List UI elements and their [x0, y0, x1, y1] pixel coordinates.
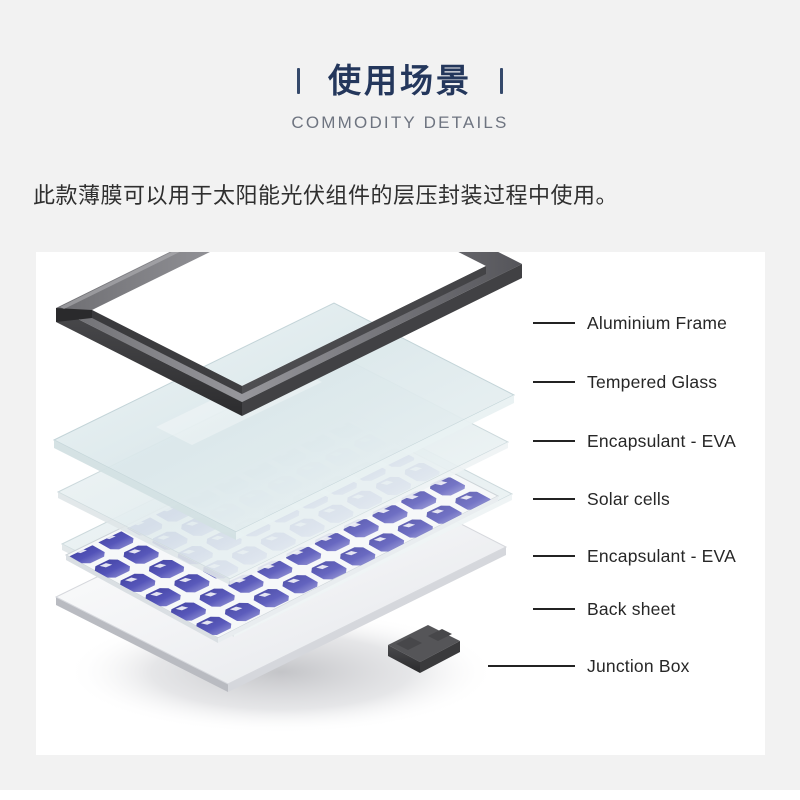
callout-aluminium-frame: Aluminium Frame	[533, 312, 727, 334]
callout-label: Aluminium Frame	[587, 313, 727, 334]
callout-solar-cells: Solar cells	[533, 488, 670, 510]
leader-line-icon	[533, 322, 575, 324]
section-header: 使用场景 COMMODITY DETAILS	[0, 58, 800, 133]
leader-line-icon	[533, 608, 575, 610]
product-image-panel: Aluminium Frame Tempered Glass Encapsula…	[36, 252, 765, 755]
callout-label: Tempered Glass	[587, 372, 717, 393]
callout-tempered-glass: Tempered Glass	[533, 371, 717, 393]
leader-line-icon	[533, 555, 575, 557]
leader-line-icon	[488, 665, 575, 667]
callout-label: Encapsulant - EVA	[587, 431, 736, 452]
callout-label: Junction Box	[587, 656, 690, 677]
callout-encapsulant-eva-top: Encapsulant - EVA	[533, 430, 736, 452]
leader-line-icon	[533, 498, 575, 500]
description-text: 此款薄膜可以用于太阳能光伏组件的层压封装过程中使用。	[33, 178, 618, 210]
page-root: 使用场景 COMMODITY DETAILS 此款薄膜可以用于太阳能光伏组件的层…	[0, 0, 800, 800]
page-title: 使用场景	[328, 61, 472, 101]
callout-list: Aluminium Frame Tempered Glass Encapsula…	[36, 252, 765, 755]
callout-label: Back sheet	[587, 599, 676, 620]
right-divider-tick	[500, 68, 503, 94]
callout-label: Encapsulant - EVA	[587, 546, 736, 567]
title-row: 使用场景	[0, 58, 800, 104]
bottom-white-strip	[0, 790, 800, 800]
callout-label: Solar cells	[587, 489, 670, 510]
left-divider-tick	[297, 68, 300, 94]
callout-junction-box: Junction Box	[488, 655, 690, 677]
leader-line-icon	[533, 381, 575, 383]
page-subtitle: COMMODITY DETAILS	[0, 113, 800, 133]
callout-encapsulant-eva-bottom: Encapsulant - EVA	[533, 545, 736, 567]
callout-back-sheet: Back sheet	[533, 598, 676, 620]
leader-line-icon	[533, 440, 575, 442]
